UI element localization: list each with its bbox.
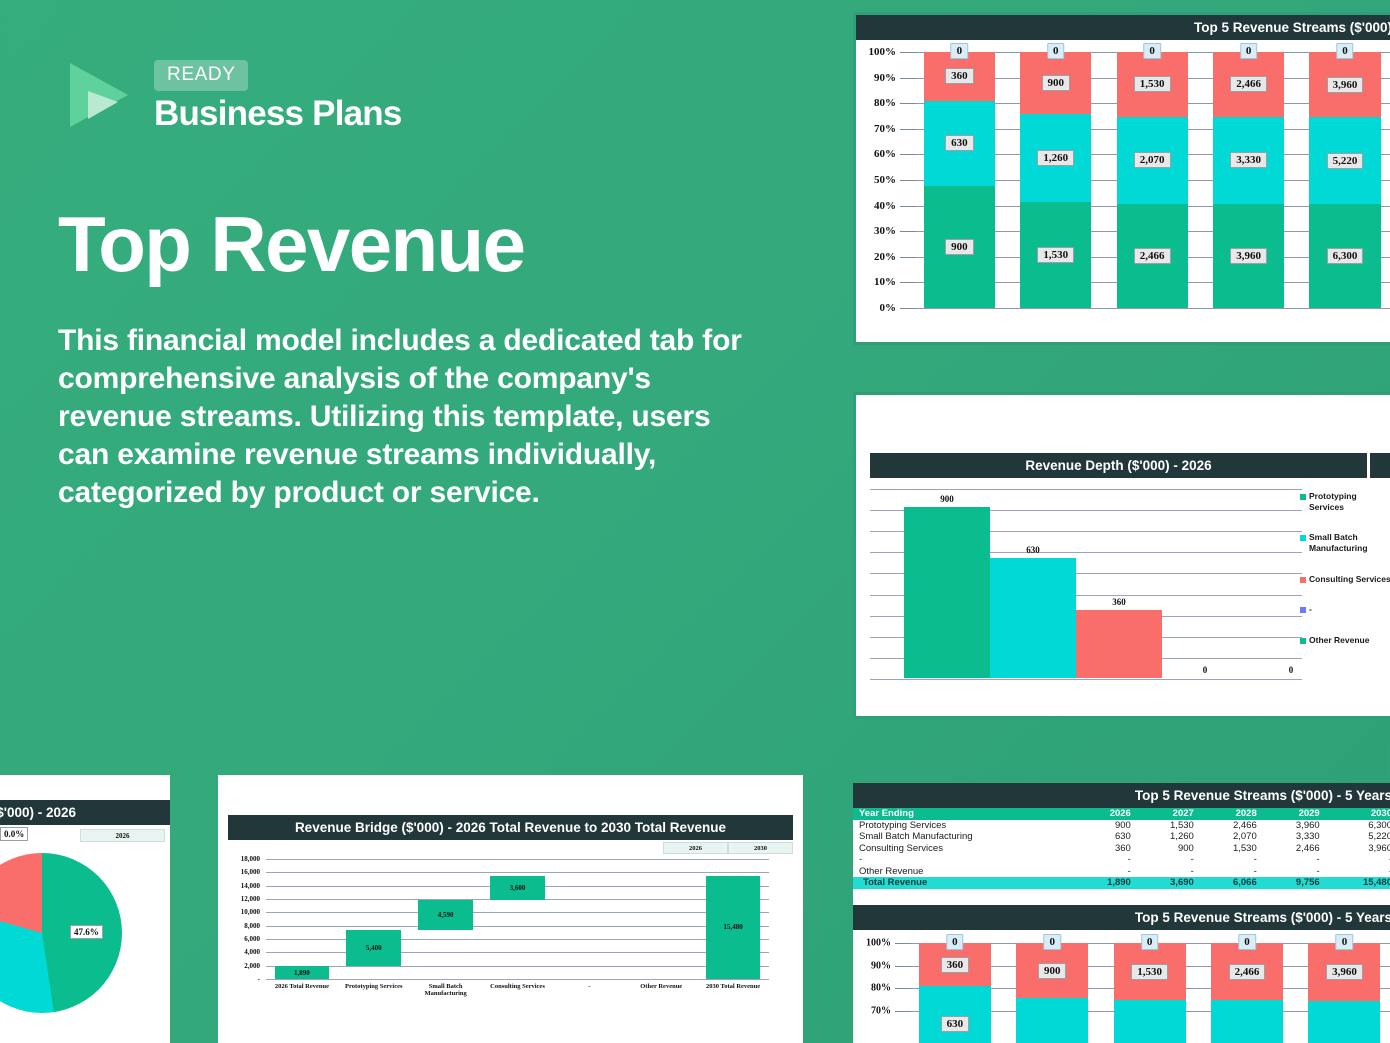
revenue-bridge-year-cells: 20262030 bbox=[663, 842, 793, 854]
row-value: 5,220 bbox=[1326, 831, 1390, 843]
row-value: - bbox=[1326, 866, 1390, 878]
row-value: - bbox=[1326, 854, 1390, 866]
play-triangle-icon bbox=[60, 55, 140, 135]
zero-value-label: 0 bbox=[1141, 934, 1159, 950]
depth-bar-slot: 0 bbox=[1162, 489, 1248, 678]
bar-segment: 9000 bbox=[1020, 52, 1091, 114]
chart-card-revenue-depth: Revenue Depth ($'000) - 2026 90063036000… bbox=[853, 392, 1390, 719]
depth-value-label: 360 bbox=[1112, 597, 1126, 607]
legend-swatch bbox=[1300, 535, 1306, 541]
revenue-streams-table: Year Ending 20262027202820292030 Prototy… bbox=[853, 808, 1390, 889]
y-tick-mark bbox=[900, 308, 916, 309]
y-tick-mark bbox=[900, 129, 916, 130]
bar-segment: 3600 bbox=[924, 52, 995, 101]
waterfall-bar: 1,890 bbox=[275, 966, 330, 979]
table-header-year: 2029 bbox=[1263, 808, 1326, 820]
waterfall-value-label: 1,890 bbox=[294, 969, 310, 977]
row-value: 2,466 bbox=[1200, 820, 1263, 832]
y-tick-label: 2,000 bbox=[244, 962, 260, 970]
row-value: 6,300 bbox=[1326, 820, 1390, 832]
row-value: - bbox=[1263, 854, 1326, 866]
y-tick-label: 10% bbox=[874, 276, 896, 288]
row-label: Small Batch Manufacturing bbox=[853, 831, 1074, 843]
y-tick-mark bbox=[900, 154, 916, 155]
segment-value-label: 900 bbox=[1038, 963, 1067, 979]
segment-value-label: 6,300 bbox=[1327, 248, 1364, 264]
y-tick-label: 80% bbox=[874, 97, 896, 109]
waterfall-bar-slot: 3,600 bbox=[482, 859, 554, 979]
waterfall-bar: 15,480 bbox=[706, 876, 761, 979]
depth-value-label: 900 bbox=[940, 494, 954, 504]
legend-item: Prototyping Services bbox=[1300, 491, 1390, 512]
legend-revenue-depth: Prototyping ServicesSmall Batch Manufact… bbox=[1300, 491, 1390, 665]
bar-slot: 3600630900 bbox=[916, 52, 1012, 308]
chart-title-run-rate: Run-Rate ($'000) - 2026 bbox=[0, 800, 170, 825]
waterfall-bar-slot: 15,480 bbox=[697, 859, 769, 979]
pie-data-label: 47.6% bbox=[70, 925, 103, 939]
zero-value-label: 0 bbox=[951, 43, 969, 59]
segment-value-label: 900 bbox=[945, 239, 974, 255]
segment-value-label: 3,960 bbox=[1230, 248, 1267, 264]
zero-value-label: 0 bbox=[946, 934, 964, 950]
year-cell: 2026 bbox=[663, 842, 728, 854]
legend-swatch bbox=[1300, 607, 1306, 613]
row-value: 1,530 bbox=[1200, 843, 1263, 855]
bar-segment: 2,4660 bbox=[1213, 52, 1284, 117]
legend-swatch bbox=[1300, 577, 1306, 583]
plot-area-bottom: 360063090001,53002,46603,9600 bbox=[911, 930, 1390, 1043]
table-header-year: 2030 bbox=[1326, 808, 1390, 820]
legend-label: Other Revenue bbox=[1309, 635, 1369, 646]
legend-label: Consulting Services bbox=[1309, 574, 1390, 585]
y-tick-label: 18,000 bbox=[241, 855, 260, 863]
waterfall-bar-slot bbox=[553, 859, 625, 979]
segment-value-label: 1,530 bbox=[1134, 76, 1171, 92]
chart-card-top-5-revenue-streams-5-years: Top 5 Revenue Streams ($'000) - 5 Years … bbox=[853, 905, 1390, 1043]
y-tick-label: 90% bbox=[874, 72, 896, 84]
total-value: 9,756 bbox=[1263, 877, 1326, 889]
y-tick-label: 8,000 bbox=[244, 922, 260, 930]
legend-item: Small Batch Manufacturing bbox=[1300, 532, 1390, 553]
pie-data-label: 0.0% bbox=[0, 827, 28, 841]
y-tick-label: 10,000 bbox=[241, 908, 260, 916]
table-header-year: 2027 bbox=[1137, 808, 1200, 820]
zero-value-label: 0 bbox=[1336, 934, 1354, 950]
zero-value-label: 0 bbox=[1336, 43, 1354, 59]
y-tick-label: 70% bbox=[874, 123, 896, 135]
segment-value-label: 630 bbox=[941, 1016, 970, 1032]
waterfall-bar: 4,590 bbox=[418, 900, 473, 931]
table-header-year: 2028 bbox=[1200, 808, 1263, 820]
segment-value-label: 2,466 bbox=[1229, 964, 1266, 980]
bar-slot: 9000 bbox=[1008, 943, 1105, 1043]
page-title: Top Revenue bbox=[58, 205, 524, 283]
bar-segment bbox=[1211, 1000, 1283, 1043]
y-tick-label: 80% bbox=[871, 983, 891, 994]
y-tick-mark bbox=[895, 943, 911, 944]
y-tick-mark bbox=[900, 206, 916, 207]
legend-swatch bbox=[1300, 494, 1306, 500]
total-value: 3,690 bbox=[1137, 877, 1200, 889]
bar-column: 3,9600 bbox=[1308, 943, 1380, 1043]
legend-item: - bbox=[1300, 604, 1390, 615]
legend-item: Consulting Services bbox=[1300, 574, 1390, 585]
total-value: 1,890 bbox=[1074, 877, 1137, 889]
row-value: 3,960 bbox=[1263, 820, 1326, 832]
row-value: - bbox=[1263, 866, 1326, 878]
row-value: 2,070 bbox=[1200, 831, 1263, 843]
segment-value-label: 3,330 bbox=[1230, 152, 1267, 168]
title-spacer-cell bbox=[1370, 453, 1390, 478]
chart-title-top-5-revenue-streams: Top 5 Revenue Streams ($'000) bbox=[856, 15, 1390, 40]
row-value: 2,466 bbox=[1263, 843, 1326, 855]
bar-slot: 90001,2601,530 bbox=[1012, 52, 1108, 308]
bar-column: 1,53002,0702,466 bbox=[1117, 52, 1188, 308]
row-value: 1,530 bbox=[1137, 820, 1200, 832]
y-tick-label: 90% bbox=[871, 960, 891, 971]
year-cell: 2030 bbox=[728, 842, 793, 854]
chart-card-run-rate: Run-Rate ($'000) - 2026 2026 0.0%0.0%0.0… bbox=[0, 775, 170, 1043]
brand-logo: READY Business Plans bbox=[60, 55, 402, 135]
total-value: 15,480 bbox=[1326, 877, 1390, 889]
table-row: Small Batch Manufacturing6301,2602,0703,… bbox=[853, 831, 1390, 843]
depth-value-label: 0 bbox=[1289, 665, 1294, 675]
bar-segment bbox=[1308, 1001, 1380, 1043]
y-tick-mark bbox=[900, 257, 916, 258]
bar-segment: 2,466 bbox=[1117, 204, 1188, 308]
segment-value-label: 2,070 bbox=[1134, 152, 1171, 168]
bars-waterfall: 1,8905,4004,5903,60015,480 bbox=[266, 859, 769, 979]
x-tick-label: Consulting Services bbox=[482, 983, 554, 997]
row-value: 900 bbox=[1137, 843, 1200, 855]
x-axis-labels-waterfall: 2026 Total RevenuePrototyping ServicesSm… bbox=[266, 983, 769, 997]
bars-depth: 90063036000 bbox=[904, 489, 1334, 678]
y-tick-label: 16,000 bbox=[241, 868, 260, 876]
waterfall-value-label: 3,600 bbox=[510, 884, 526, 892]
gridline bbox=[916, 308, 1390, 309]
depth-value-label: 630 bbox=[1026, 545, 1040, 555]
table-header-row: Year Ending 20262027202820292030 bbox=[853, 808, 1390, 820]
table-card-top-5-revenue-streams-5-years: Top 5 Revenue Streams ($'000) - 5 Years … bbox=[853, 783, 1390, 905]
waterfall-bar-slot: 1,890 bbox=[266, 859, 338, 979]
y-axis-labels-top: 100%90%80%70%60%50%40%30%20%10%0% bbox=[856, 40, 900, 324]
bars-row: 360063090001,53002,46603,9600 bbox=[911, 943, 1390, 1043]
segment-value-label: 630 bbox=[945, 135, 974, 151]
depth-value-label: 0 bbox=[1203, 665, 1208, 675]
stacked-bar-plot-bottom: 100%90%80%70% 360063090001,53002,46603,9… bbox=[853, 930, 1390, 1042]
depth-bar-slot: 900 bbox=[904, 489, 990, 678]
zero-value-label: 0 bbox=[1047, 43, 1065, 59]
run-rate-year-cell: 2026 bbox=[80, 829, 165, 842]
table-title: Top 5 Revenue Streams ($'000) - 5 Years bbox=[853, 783, 1390, 808]
y-tick-mark bbox=[900, 103, 916, 104]
segment-value-label: 1,260 bbox=[1037, 150, 1074, 166]
x-tick-label: Prototyping Services bbox=[338, 983, 410, 997]
chart-card-top-5-revenue-streams: Top 5 Revenue Streams ($'000) 100%90%80%… bbox=[853, 12, 1390, 345]
y-tick-mark bbox=[900, 282, 916, 283]
legend-label: Prototyping Services bbox=[1309, 491, 1390, 512]
chart-title-revenue-bridge: Revenue Bridge ($'000) - 2026 Total Reve… bbox=[228, 815, 793, 840]
bar-segment: 3,330 bbox=[1213, 117, 1284, 204]
waterfall-bar-slot bbox=[625, 859, 697, 979]
waterfall-value-label: 4,590 bbox=[438, 911, 454, 919]
row-value: - bbox=[1137, 866, 1200, 878]
segment-value-label: 5,220 bbox=[1327, 153, 1364, 169]
segment-value-label: 1,530 bbox=[1037, 247, 1074, 263]
y-tick-mark bbox=[900, 78, 916, 79]
zero-value-label: 0 bbox=[1240, 43, 1258, 59]
y-axis-labels-waterfall: 18,00016,00014,00012,00010,0008,0006,000… bbox=[228, 859, 262, 979]
table-body: Prototyping Services9001,5302,4663,9606,… bbox=[853, 820, 1390, 878]
depth-bar bbox=[904, 507, 990, 678]
waterfall-bar-slot: 5,400 bbox=[338, 859, 410, 979]
table-row: Other Revenue----- bbox=[853, 866, 1390, 878]
y-tick-mark bbox=[900, 52, 916, 53]
segment-value-label: 3,960 bbox=[1326, 964, 1363, 980]
segment-value-label: 360 bbox=[945, 68, 974, 84]
bar-segment: 900 bbox=[924, 186, 995, 308]
y-tick-label: 100% bbox=[869, 46, 897, 58]
row-label: Other Revenue bbox=[853, 866, 1074, 878]
segment-value-label: 2,466 bbox=[1230, 76, 1267, 92]
bar-column: 90001,2601,530 bbox=[1020, 52, 1091, 308]
y-axis-labels-bottom: 100%90%80%70% bbox=[853, 930, 895, 1043]
row-value: - bbox=[1074, 854, 1137, 866]
waterfall-value-label: 5,400 bbox=[366, 944, 382, 952]
bar-column: 2,4660 bbox=[1211, 943, 1283, 1043]
bar-segment: 3,9600 bbox=[1308, 943, 1380, 1001]
x-tick-label: - bbox=[553, 983, 625, 997]
total-value: 6,066 bbox=[1200, 877, 1263, 889]
bar-column: 3,96005,2206,300 bbox=[1309, 52, 1380, 308]
bar-segment: 5,220 bbox=[1309, 117, 1380, 203]
total-label: Total Revenue bbox=[853, 877, 1074, 889]
depth-bar bbox=[1076, 610, 1162, 678]
y-tick-label: 20% bbox=[874, 251, 896, 263]
segment-value-label: 360 bbox=[941, 957, 970, 973]
bar-segment: 3,960 bbox=[1213, 204, 1284, 308]
bar-segment: 2,070 bbox=[1117, 117, 1188, 204]
bar-slot: 1,53002,0702,466 bbox=[1109, 52, 1205, 308]
bar-segment: 1,530 bbox=[1020, 202, 1091, 308]
segment-value-label: 3,960 bbox=[1327, 77, 1364, 93]
y-tick-mark bbox=[900, 180, 916, 181]
brand-name: Business Plans bbox=[154, 96, 402, 131]
y-tick-label: 6,000 bbox=[244, 935, 260, 943]
legend-swatch bbox=[1300, 638, 1306, 644]
plot-area-top: 360063090090001,2601,5301,53002,0702,466… bbox=[916, 40, 1390, 324]
x-tick-label: 2030 Total Revenue bbox=[697, 983, 769, 997]
depth-bar-slot: 630 bbox=[990, 489, 1076, 678]
bar-column: 3600630 bbox=[919, 943, 991, 1043]
chart-title-stacked-bottom: Top 5 Revenue Streams ($'000) - 5 Years bbox=[853, 905, 1390, 930]
gridline bbox=[266, 979, 769, 980]
bar-column: 2,46603,3303,960 bbox=[1213, 52, 1284, 308]
y-tick-label: 30% bbox=[874, 225, 896, 237]
row-value: - bbox=[1074, 866, 1137, 878]
row-label: Prototyping Services bbox=[853, 820, 1074, 832]
bar-slot: 3600630 bbox=[911, 943, 1008, 1043]
legend-item: Other Revenue bbox=[1300, 635, 1390, 646]
bar-segment: 630 bbox=[919, 986, 991, 1043]
y-tick-label: - bbox=[258, 975, 260, 983]
y-tick-label: 0% bbox=[880, 302, 897, 314]
table-head: Year Ending 20262027202820292030 bbox=[853, 808, 1390, 820]
bar-segment: 1,5300 bbox=[1114, 943, 1186, 1000]
chart-card-revenue-bridge: Revenue Bridge ($'000) - 2026 Total Reve… bbox=[218, 775, 803, 1043]
row-value: 360 bbox=[1074, 843, 1137, 855]
row-value: 1,260 bbox=[1137, 831, 1200, 843]
y-tick-mark bbox=[900, 231, 916, 232]
bar-segment: 2,4660 bbox=[1211, 943, 1283, 1000]
y-tick-label: 40% bbox=[874, 200, 896, 212]
row-value: 630 bbox=[1074, 831, 1137, 843]
depth-bar bbox=[990, 558, 1076, 678]
chart-title-revenue-depth: Revenue Depth ($'000) - 2026 bbox=[870, 453, 1367, 478]
depth-bar-slot: 360 bbox=[1076, 489, 1162, 678]
ready-badge: READY bbox=[154, 60, 248, 91]
row-value: - bbox=[1200, 866, 1263, 878]
row-label: - bbox=[853, 854, 1074, 866]
y-tick-label: 50% bbox=[874, 174, 896, 186]
bar-column: 9000 bbox=[1016, 943, 1088, 1043]
row-value: - bbox=[1200, 854, 1263, 866]
y-tick-mark bbox=[895, 1011, 911, 1012]
zero-value-label: 0 bbox=[1238, 934, 1256, 950]
bar-segment: 9000 bbox=[1016, 943, 1088, 998]
table-row: ------ bbox=[853, 854, 1390, 866]
waterfall-plot: 18,00016,00014,00012,00010,0008,0006,000… bbox=[228, 859, 793, 994]
bar-slot: 3,96005,2206,300 bbox=[1302, 52, 1390, 308]
table-header-year: 2026 bbox=[1074, 808, 1137, 820]
x-tick-label: 2026 Total Revenue bbox=[266, 983, 338, 997]
row-value: 900 bbox=[1074, 820, 1137, 832]
bar-segment: 6,300 bbox=[1309, 204, 1380, 308]
table-total-row: Total Revenue 1,8903,6906,0669,75615,480 bbox=[853, 877, 1390, 889]
waterfall-bar: 5,400 bbox=[346, 930, 401, 966]
segment-value-label: 2,466 bbox=[1134, 248, 1171, 264]
waterfall-bar: 3,600 bbox=[490, 876, 545, 900]
segment-value-label: 1,530 bbox=[1131, 964, 1168, 980]
bar-segment: 630 bbox=[924, 101, 995, 186]
zero-value-label: 0 bbox=[1043, 934, 1061, 950]
table-header-year-ending: Year Ending bbox=[853, 808, 1074, 820]
row-value: 3,330 bbox=[1263, 831, 1326, 843]
legend-label: Small Batch Manufacturing bbox=[1309, 532, 1390, 553]
y-tick-mark bbox=[895, 988, 911, 989]
pie-slices bbox=[0, 853, 122, 1013]
y-tick-label: 4,000 bbox=[244, 948, 260, 956]
x-tick-label: Other Revenue bbox=[625, 983, 697, 997]
y-tick-label: 100% bbox=[866, 938, 891, 949]
row-value: 3,960 bbox=[1326, 843, 1390, 855]
bar-slot: 1,5300 bbox=[1106, 943, 1203, 1043]
y-tick-label: 70% bbox=[871, 1006, 891, 1017]
bar-slot: 3,9600 bbox=[1301, 943, 1390, 1043]
y-tick-mark bbox=[895, 966, 911, 967]
y-tick-label: 12,000 bbox=[241, 895, 260, 903]
waterfall-bar-slot: 4,590 bbox=[410, 859, 482, 979]
table-row: Prototyping Services9001,5302,4663,9606,… bbox=[853, 820, 1390, 832]
row-label: Consulting Services bbox=[853, 843, 1074, 855]
bars-row: 360063090090001,2601,5301,53002,0702,466… bbox=[916, 52, 1390, 308]
table-foot: Total Revenue 1,8903,6906,0669,75615,480 bbox=[853, 877, 1390, 889]
brand-text: READY Business Plans bbox=[154, 60, 402, 131]
table-row: Consulting Services3609001,5302,4663,960 bbox=[853, 843, 1390, 855]
gridline bbox=[870, 679, 1302, 680]
page-description: This financial model includes a dedicate… bbox=[58, 322, 758, 512]
pie-chart-run-rate: 0.0%0.0%0.0%47.6% bbox=[0, 853, 122, 1013]
zero-value-label: 0 bbox=[1143, 43, 1161, 59]
bar-column: 1,5300 bbox=[1114, 943, 1186, 1043]
bar-segment: 3600 bbox=[919, 943, 991, 986]
segment-value-label: 900 bbox=[1042, 75, 1071, 91]
waterfall-value-label: 15,480 bbox=[723, 923, 742, 931]
y-tick-label: 60% bbox=[874, 148, 896, 160]
bar-segment bbox=[1016, 998, 1088, 1043]
stacked-bar-plot-top: 100%90%80%70%60%50%40%30%20%10%0% 360063… bbox=[856, 40, 1390, 324]
bar-slot: 2,4660 bbox=[1203, 943, 1300, 1043]
bar-slot: 2,46603,3303,960 bbox=[1205, 52, 1301, 308]
bar-column: 3600630900 bbox=[924, 52, 995, 308]
legend-label: - bbox=[1309, 604, 1312, 615]
y-tick-label: 14,000 bbox=[241, 882, 260, 890]
row-value: - bbox=[1137, 854, 1200, 866]
bar-segment: 1,5300 bbox=[1117, 52, 1188, 117]
bar-segment bbox=[1114, 1000, 1186, 1043]
bar-segment: 3,9600 bbox=[1309, 52, 1380, 117]
bar-segment: 1,260 bbox=[1020, 114, 1091, 201]
x-tick-label: Small Batch Manufacturing bbox=[410, 983, 482, 997]
